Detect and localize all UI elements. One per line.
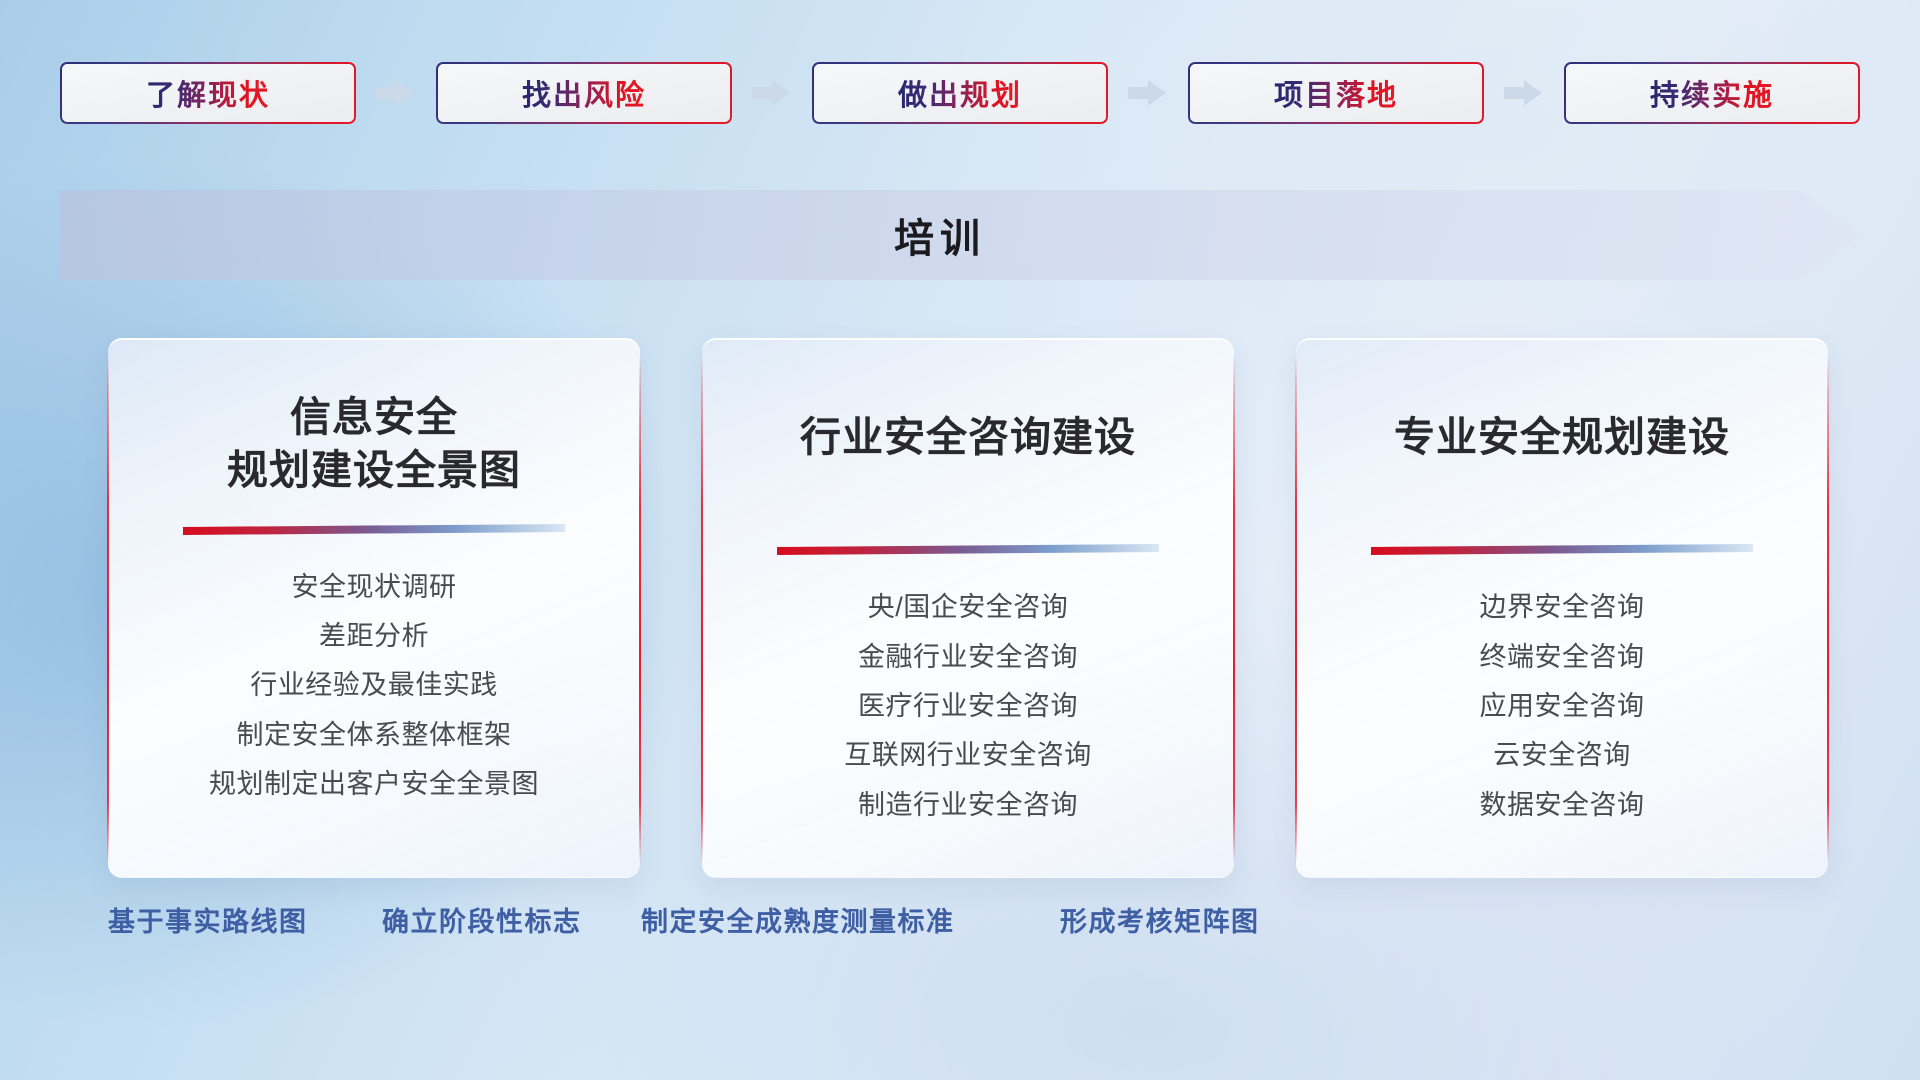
card-list-item: 制定安全体系整体框架 bbox=[237, 719, 512, 751]
step-box-1[interactable]: 找出风险 bbox=[436, 62, 732, 124]
card-list-item: 规划制定出客户安全全景图 bbox=[209, 768, 539, 800]
step-box-3[interactable]: 项目落地 bbox=[1188, 62, 1484, 124]
card-item-list: 边界安全咨询 终端安全咨询 应用安全咨询 云安全咨询 数据安全咨询 bbox=[1296, 591, 1828, 821]
card-list-item: 应用安全咨询 bbox=[1480, 690, 1645, 722]
service-card-2[interactable]: 专业安全规划建设 边界安全咨询 终端安全咨询 应用安全咨询 云安全咨询 数据安全… bbox=[1296, 338, 1828, 878]
right-arrow-icon bbox=[1128, 78, 1168, 108]
process-step-row: 了解现状 找出风险 做出规划 项目落地 持续实施 bbox=[60, 62, 1860, 124]
outcome-label-1: 确立阶段性标志 bbox=[382, 900, 582, 939]
card-list-item: 互联网行业安全咨询 bbox=[844, 739, 1092, 771]
card-list-item: 安全现状调研 bbox=[292, 571, 457, 603]
card-list-item: 行业经验及最佳实践 bbox=[250, 669, 498, 701]
card-list-item: 差距分析 bbox=[319, 620, 429, 652]
card-list-item: 边界安全咨询 bbox=[1480, 591, 1645, 623]
step-box-4[interactable]: 持续实施 bbox=[1564, 62, 1860, 124]
card-list-item: 制造行业安全咨询 bbox=[858, 789, 1078, 821]
card-title: 专业安全规划建设 bbox=[1394, 411, 1730, 464]
service-card-row: 信息安全 规划建设全景图 安全现状调研 差距分析 行业经验及最佳实践 制定安全体… bbox=[108, 338, 1828, 878]
banner-title: 培训 bbox=[60, 190, 1860, 280]
card-title: 行业安全咨询建设 bbox=[800, 411, 1136, 464]
card-list-item: 云安全咨询 bbox=[1493, 739, 1631, 771]
training-banner: 培训 bbox=[60, 190, 1860, 280]
step-box-2[interactable]: 做出规划 bbox=[812, 62, 1108, 124]
card-list-item: 医疗行业安全咨询 bbox=[858, 690, 1078, 722]
card-divider-icon bbox=[777, 544, 1159, 555]
card-title: 信息安全 规划建设全景图 bbox=[227, 391, 521, 498]
card-list-item: 终端安全咨询 bbox=[1480, 641, 1645, 673]
step-box-0[interactable]: 了解现状 bbox=[60, 62, 356, 124]
card-list-item: 央/国企安全咨询 bbox=[868, 591, 1069, 623]
outcome-label-3: 形成考核矩阵图 bbox=[1060, 900, 1260, 939]
card-divider-icon bbox=[1371, 544, 1753, 555]
outcome-label-row: 基于事实路线图 确立阶段性标志 制定安全成熟度测量标准 形成考核矩阵图 bbox=[0, 900, 1920, 950]
step-label: 做出规划 bbox=[898, 72, 1022, 114]
step-label: 找出风险 bbox=[522, 72, 646, 114]
card-list-item: 金融行业安全咨询 bbox=[858, 641, 1078, 673]
right-arrow-icon bbox=[376, 78, 416, 108]
right-arrow-icon bbox=[752, 78, 792, 108]
service-card-0[interactable]: 信息安全 规划建设全景图 安全现状调研 差距分析 行业经验及最佳实践 制定安全体… bbox=[108, 338, 640, 878]
card-item-list: 央/国企安全咨询 金融行业安全咨询 医疗行业安全咨询 互联网行业安全咨询 制造行… bbox=[702, 591, 1234, 821]
card-item-list: 安全现状调研 差距分析 行业经验及最佳实践 制定安全体系整体框架 规划制定出客户… bbox=[108, 571, 640, 801]
outcome-label-2: 制定安全成熟度测量标准 bbox=[641, 900, 955, 939]
card-divider-icon bbox=[183, 524, 565, 535]
step-label: 项目落地 bbox=[1274, 72, 1398, 114]
service-card-1[interactable]: 行业安全咨询建设 央/国企安全咨询 金融行业安全咨询 医疗行业安全咨询 互联网行… bbox=[702, 338, 1234, 878]
right-arrow-icon bbox=[1504, 78, 1544, 108]
outcome-label-0: 基于事实路线图 bbox=[108, 900, 308, 939]
step-label: 持续实施 bbox=[1650, 72, 1774, 114]
card-list-item: 数据安全咨询 bbox=[1480, 789, 1645, 821]
step-label: 了解现状 bbox=[146, 72, 270, 114]
